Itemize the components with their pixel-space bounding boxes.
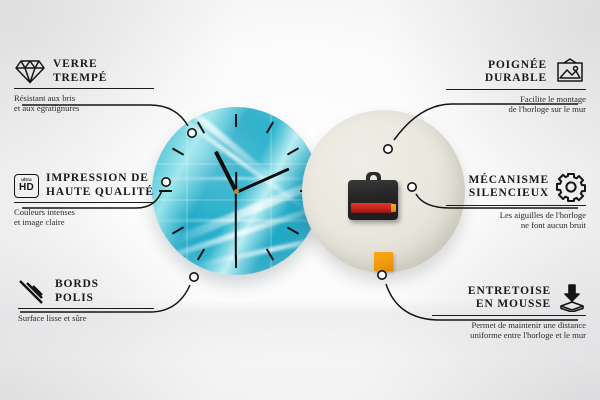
- clock-tick: [159, 190, 172, 192]
- feature-verre-trempe: VERRE TREMPÉ Résistant aux bris et aux é…: [14, 58, 154, 114]
- feature-rule: [14, 202, 154, 203]
- foam-arrow-icon: [558, 284, 586, 312]
- feature-title: IMPRESSION DE HAUTE QUALITÉ: [46, 172, 154, 199]
- infographic-canvas: VERRE TREMPÉ Résistant aux bris et aux é…: [0, 0, 600, 400]
- feature-poignee-durable: POIGNÉE DURABLE Facilite le montage de l…: [446, 58, 586, 115]
- feature-rule: [446, 205, 586, 206]
- second-hand: [235, 192, 237, 260]
- ultra-hd-icon: ultra HD: [14, 174, 39, 198]
- gear-icon: [556, 172, 586, 202]
- feature-description: Couleurs intenses et image claire: [14, 207, 154, 228]
- feature-description: Facilite le montage de l'horloge sur le …: [446, 94, 586, 115]
- feature-title: VERRE TREMPÉ: [53, 58, 107, 85]
- feature-title: BORDS POLIS: [55, 278, 99, 305]
- feature-description: Les aiguilles de l'horloge ne font aucun…: [446, 210, 586, 231]
- feature-title: MÉCANISME SILENCIEUX: [469, 174, 550, 201]
- feature-title: POIGNÉE DURABLE: [485, 59, 547, 86]
- feature-entretoise-en-mousse: ENTRETOISE EN MOUSSE Permet de maintenir…: [432, 284, 586, 341]
- clock-mechanism: [348, 180, 398, 220]
- feature-impression-haute-qualite: ultra HD IMPRESSION DE HAUTE QUALITÉ Cou…: [14, 172, 154, 228]
- clock-front-face: [152, 107, 320, 275]
- feature-bords-polis: BORDS POLIS Surface lisse et sûre: [18, 278, 154, 323]
- feature-rule: [432, 315, 586, 316]
- clock-tick: [235, 114, 237, 127]
- feature-description: Résistant aux bris et aux égratignures: [14, 93, 154, 114]
- hanging-frame-icon: [554, 58, 586, 86]
- diagonal-lines-icon: [18, 279, 48, 305]
- ultra-hd-main-text: HD: [19, 183, 34, 193]
- feature-description: Permet de maintenir une distance uniform…: [432, 320, 586, 341]
- feature-rule: [14, 88, 154, 89]
- feature-title: ENTRETOISE EN MOUSSE: [468, 285, 551, 312]
- feature-mecanisme-silencieux: MÉCANISME SILENCIEUX Les aiguilles de l'…: [446, 172, 586, 231]
- feature-rule: [446, 89, 586, 90]
- battery: [351, 203, 393, 213]
- feature-description: Surface lisse et sûre: [18, 313, 154, 323]
- foam-spacer: [374, 252, 393, 271]
- feature-rule: [18, 308, 154, 309]
- diamond-icon: [14, 58, 46, 85]
- hands-center-cap: [234, 189, 239, 194]
